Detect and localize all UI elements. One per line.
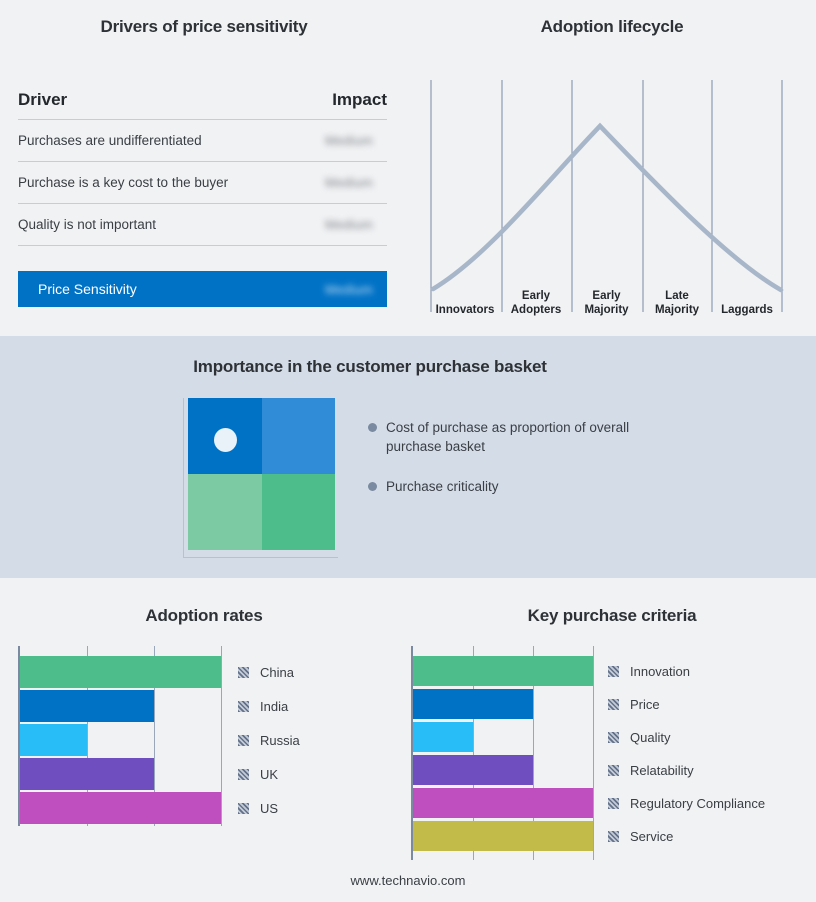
bar xyxy=(20,758,154,790)
lifecycle-stage-late-majority: LateMajority xyxy=(642,290,712,317)
adoption-lifecycle-panel: Adoption lifecycle Innovators EarlyAdopt… xyxy=(408,0,816,336)
legend-label: India xyxy=(260,699,288,714)
hatch-swatch-icon xyxy=(238,769,249,780)
table-row: Quality is not important Medium xyxy=(18,204,387,246)
adoption-rates-panel: Adoption rates ChinaIndiaRussiaUKUS xyxy=(0,578,408,902)
quadrant-position-dot xyxy=(214,428,237,452)
legend-item: Relatability xyxy=(608,763,694,778)
hatch-swatch-icon xyxy=(608,831,619,842)
legend-label: Quality xyxy=(630,730,670,745)
quadrant-matrix-frame xyxy=(183,398,338,558)
impact-value: Medium xyxy=(325,133,387,148)
bar xyxy=(413,722,473,752)
driver-label: Quality is not important xyxy=(18,217,156,232)
adoption-lifecycle-title: Adoption lifecycle xyxy=(408,17,816,37)
legend-label: US xyxy=(260,801,278,816)
lifecycle-stage-laggards: Laggards xyxy=(712,304,782,318)
price-sensitivity-impact-value: Medium xyxy=(325,282,387,297)
lifecycle-stage-innovators: Innovators xyxy=(430,304,500,318)
quadrant-bottom-right xyxy=(262,474,336,550)
legend-label: Service xyxy=(630,829,673,844)
bar xyxy=(413,656,593,686)
bar xyxy=(413,821,593,851)
legend-item: Price xyxy=(608,697,660,712)
legend-label: Purchase criticality xyxy=(386,477,499,496)
legend-item: China xyxy=(238,665,294,680)
gridline xyxy=(593,646,594,860)
drivers-panel: Drivers of price sensitivity Driver Impa… xyxy=(0,0,408,336)
key-purchase-criteria-panel: Key purchase criteria InnovationPriceQua… xyxy=(408,578,816,902)
list-item: Purchase criticality xyxy=(368,477,668,496)
hatch-swatch-icon xyxy=(238,701,249,712)
infographic-page: Drivers of price sensitivity Driver Impa… xyxy=(0,0,816,902)
legend-label: Innovation xyxy=(630,664,690,679)
key-purchase-criteria-legend: InnovationPriceQualityRelatabilityRegula… xyxy=(608,646,808,860)
bar xyxy=(20,792,221,824)
lifecycle-stage-labels: Innovators EarlyAdopters EarlyMajority L… xyxy=(430,283,802,317)
adoption-rates-title: Adoption rates xyxy=(0,606,408,626)
legend-label: Relatability xyxy=(630,763,694,778)
quadrant-matrix xyxy=(188,398,335,550)
impact-value: Medium xyxy=(325,217,387,232)
legend-label: Regulatory Compliance xyxy=(630,796,765,811)
key-purchase-criteria-chart xyxy=(411,646,594,860)
hatch-swatch-icon xyxy=(238,735,249,746)
purchase-basket-legend: Cost of purchase as proportion of overal… xyxy=(368,418,668,517)
hatch-swatch-icon xyxy=(608,765,619,776)
legend-label: Price xyxy=(630,697,660,712)
hatch-swatch-icon xyxy=(608,732,619,743)
legend-item: India xyxy=(238,699,288,714)
adoption-rates-chart xyxy=(18,646,224,826)
adoption-lifecycle-chart xyxy=(428,80,804,312)
price-sensitivity-highlight-row: Price Sensitivity Medium xyxy=(18,271,387,307)
hatch-swatch-icon xyxy=(238,667,249,678)
table-row: Purchases are undifferentiated Medium xyxy=(18,120,387,162)
table-header-row: Driver Impact xyxy=(18,90,387,120)
column-header-impact: Impact xyxy=(332,90,387,110)
legend-item: Innovation xyxy=(608,664,690,679)
bar xyxy=(413,788,593,818)
lifecycle-gridlines xyxy=(431,80,782,312)
lifecycle-stage-early-adopters: EarlyAdopters xyxy=(501,290,571,317)
price-sensitivity-label: Price Sensitivity xyxy=(38,281,137,297)
bar xyxy=(20,690,154,722)
legend-item: Regulatory Compliance xyxy=(608,796,765,811)
list-item: Cost of purchase as proportion of overal… xyxy=(368,418,668,456)
hatch-swatch-icon xyxy=(608,699,619,710)
hatch-swatch-icon xyxy=(608,666,619,677)
legend-label: China xyxy=(260,665,294,680)
quadrant-bottom-left xyxy=(188,474,262,550)
legend-label: Cost of purchase as proportion of overal… xyxy=(386,418,634,456)
legend-label: UK xyxy=(260,767,278,782)
bullet-icon xyxy=(368,423,377,432)
key-purchase-criteria-title: Key purchase criteria xyxy=(408,606,816,626)
drivers-title: Drivers of price sensitivity xyxy=(0,17,408,37)
bar xyxy=(413,689,533,719)
gridline xyxy=(221,646,222,826)
purchase-basket-band: Importance in the customer purchase bask… xyxy=(0,336,816,578)
impact-value: Medium xyxy=(325,175,387,190)
legend-item: US xyxy=(238,801,278,816)
drivers-table: Driver Impact Purchases are undifferenti… xyxy=(18,90,387,246)
legend-item: Service xyxy=(608,829,673,844)
legend-item: Russia xyxy=(238,733,300,748)
hatch-swatch-icon xyxy=(238,803,249,814)
table-row: Purchase is a key cost to the buyer Medi… xyxy=(18,162,387,204)
bar xyxy=(20,656,221,688)
lifecycle-bell-curve xyxy=(433,126,781,290)
driver-label: Purchase is a key cost to the buyer xyxy=(18,175,228,190)
legend-label: Russia xyxy=(260,733,300,748)
bullet-icon xyxy=(368,482,377,491)
bar xyxy=(413,755,533,785)
quadrant-top-left xyxy=(188,398,262,474)
driver-label: Purchases are undifferentiated xyxy=(18,133,202,148)
adoption-rates-legend: ChinaIndiaRussiaUKUS xyxy=(238,646,388,826)
lifecycle-stage-early-majority: EarlyMajority xyxy=(571,290,642,317)
legend-item: Quality xyxy=(608,730,670,745)
quadrant-top-right xyxy=(262,398,336,474)
column-header-driver: Driver xyxy=(18,90,67,110)
hatch-swatch-icon xyxy=(608,798,619,809)
purchase-basket-title: Importance in the customer purchase bask… xyxy=(0,357,740,377)
footer-url: www.technavio.com xyxy=(0,873,816,888)
bar xyxy=(20,724,87,756)
legend-item: UK xyxy=(238,767,278,782)
